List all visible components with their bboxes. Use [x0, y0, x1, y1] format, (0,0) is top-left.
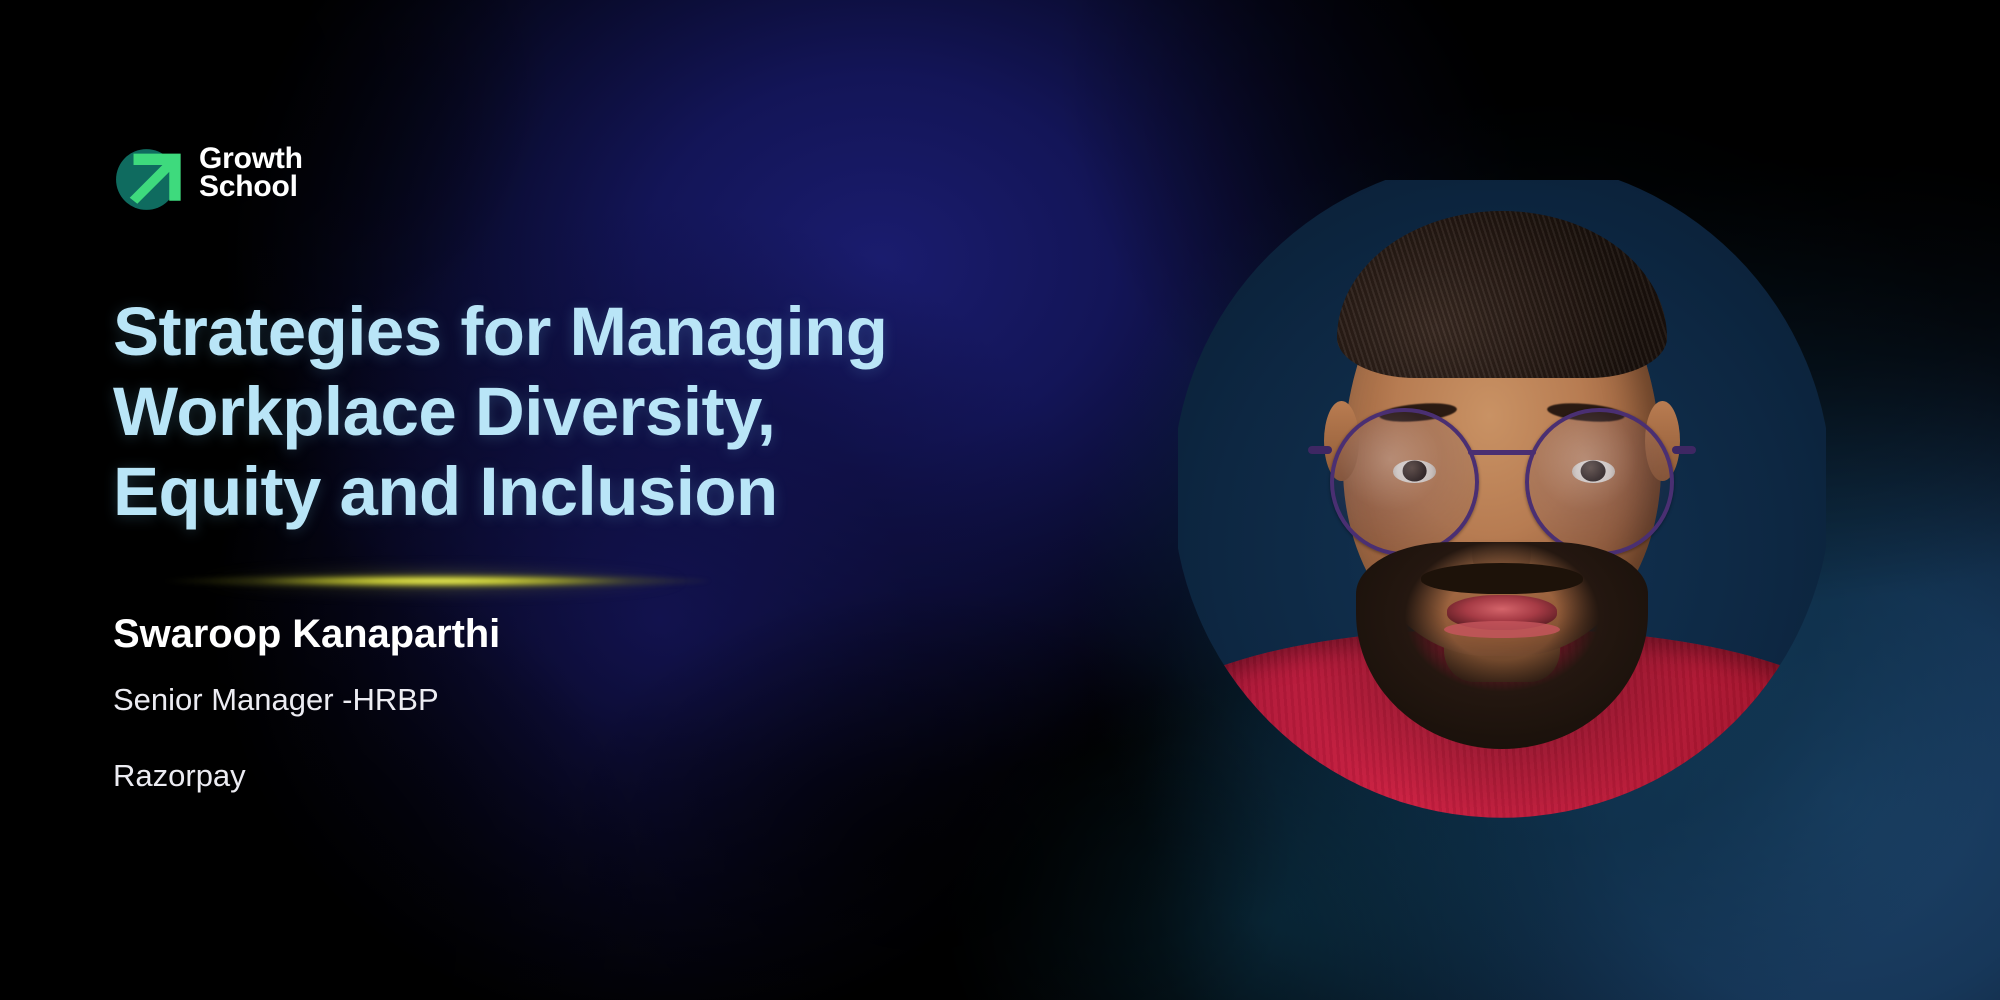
page-title-line-2: Workplace Diversity, [113, 372, 1173, 452]
portrait-lens-right [1525, 408, 1674, 557]
webinar-title-slide: Growth School Strategies for Managing Wo… [0, 0, 2000, 1000]
brand-logo: Growth School [113, 143, 353, 219]
speaker-role: Senior Manager -HRBP [113, 683, 500, 717]
speaker-name: Swaroop Kanaparthi [113, 612, 500, 656]
speaker-portrait [1178, 180, 1826, 850]
page-title-line-1: Strategies for Managing [113, 292, 1173, 372]
speaker-info: Swaroop Kanaparthi Senior Manager -HRBP … [113, 612, 500, 793]
portrait-glasses-temple-right [1672, 446, 1696, 454]
brand-wordmark-line1: Growth [199, 145, 303, 173]
page-title-line-3: Equity and Inclusion [113, 452, 1173, 532]
growth-school-arrow-circle-icon [113, 143, 189, 219]
page-title: Strategies for Managing Workplace Divers… [113, 292, 1173, 531]
gold-glow-divider [150, 573, 710, 589]
brand-wordmark: Growth School [199, 145, 303, 200]
portrait-moustache [1421, 563, 1583, 594]
portrait-glasses-bridge [1468, 450, 1537, 455]
portrait-lens-left [1330, 408, 1479, 557]
speaker-company: Razorpay [113, 759, 500, 793]
portrait-circular-clip [1178, 180, 1826, 850]
divider-core [150, 573, 710, 589]
portrait-glasses-temple-left [1308, 446, 1332, 454]
brand-wordmark-line2: School [199, 173, 303, 201]
